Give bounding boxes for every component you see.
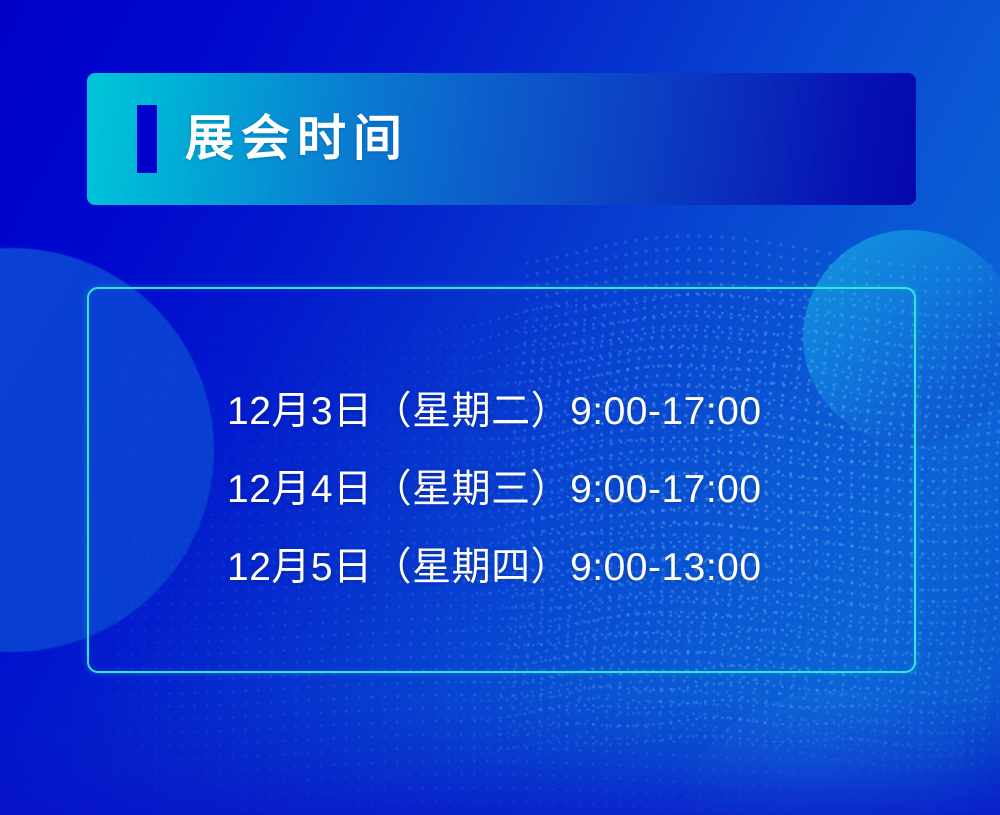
header-accent-bar <box>137 105 157 173</box>
poster-canvas: 展会时间 12月3日（星期二）9:00-17:00 12月4日（星期三）9:00… <box>0 0 1000 815</box>
decorative-glow-bottom <box>690 690 990 815</box>
page-title: 展会时间 <box>185 115 409 164</box>
section-header: 展会时间 <box>87 73 916 205</box>
schedule-list: 12月3日（星期二）9:00-17:00 12月4日（星期三）9:00-17:0… <box>227 373 847 607</box>
schedule-line: 12月3日（星期二）9:00-17:00 <box>227 373 847 451</box>
schedule-line: 12月5日（星期四）9:00-13:00 <box>227 529 847 607</box>
schedule-line: 12月4日（星期三）9:00-17:00 <box>227 451 847 529</box>
